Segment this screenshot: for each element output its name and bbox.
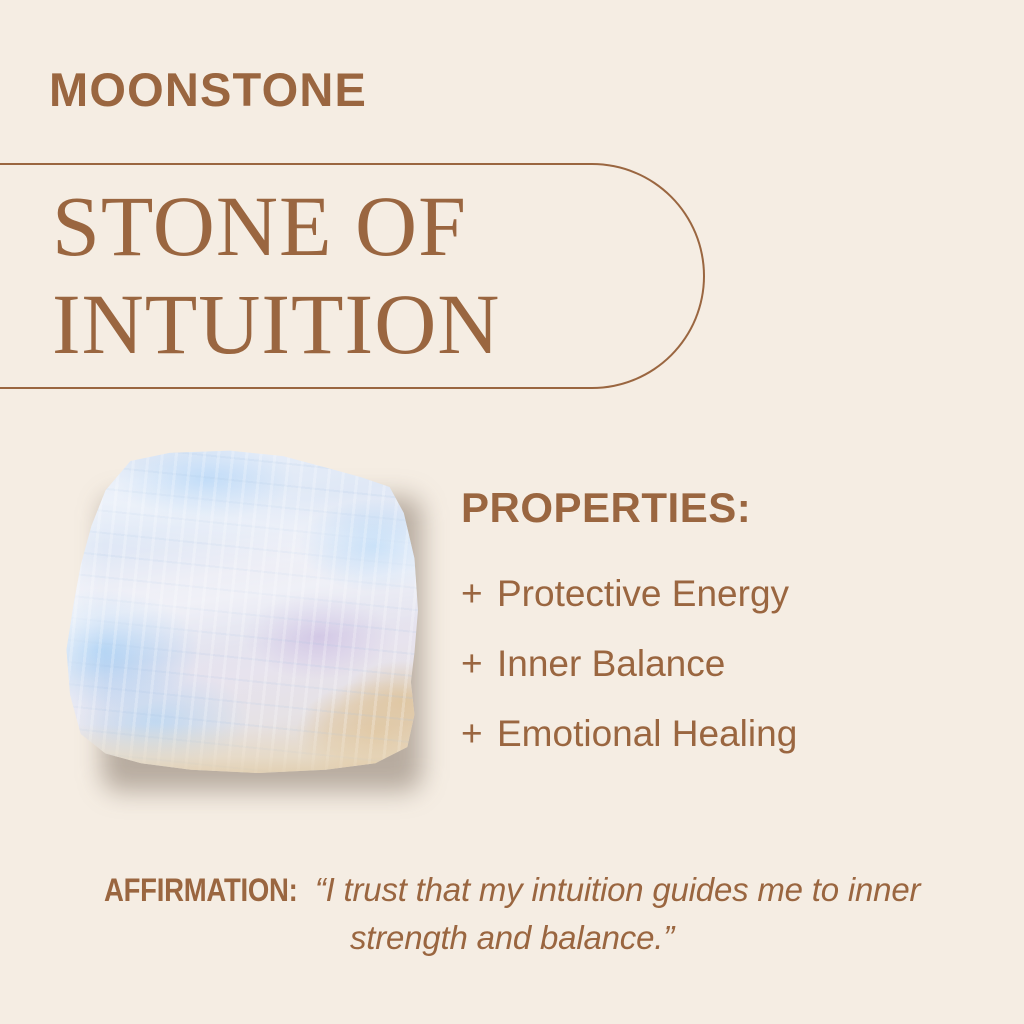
affirmation-label: AFFIRMATION:: [104, 867, 298, 914]
poster-canvas: MOONSTONE STONE OF INTUITION PROPERTIES:…: [0, 0, 1024, 1024]
property-item-label: Protective Energy: [497, 573, 789, 614]
plus-icon: +: [461, 559, 497, 629]
plus-icon: +: [461, 699, 497, 769]
page-title-line-1: STONE OF: [52, 177, 652, 275]
moonstone-facet-edge: [63, 448, 418, 773]
affirmation-quote: “I trust that my intuition guides me to …: [315, 871, 920, 956]
page-eyebrow-title: MOONSTONE: [49, 66, 367, 113]
affirmation-section: AFFIRMATION:“I trust that my intuition g…: [46, 866, 978, 961]
property-item: +Protective Energy: [461, 559, 981, 629]
properties-section: PROPERTIES: +Protective Energy +Inner Ba…: [461, 483, 981, 769]
properties-heading: PROPERTIES:: [461, 483, 981, 533]
property-item: +Inner Balance: [461, 629, 981, 699]
property-item-label: Inner Balance: [497, 643, 725, 684]
property-item-label: Emotional Healing: [497, 713, 797, 754]
page-title-line-2: INTUITION: [52, 275, 652, 373]
plus-icon: +: [461, 629, 497, 699]
moonstone-crystal: [63, 448, 418, 773]
page-title: STONE OF INTUITION: [52, 177, 652, 373]
property-item: +Emotional Healing: [461, 699, 981, 769]
moonstone-image: [55, 440, 425, 785]
